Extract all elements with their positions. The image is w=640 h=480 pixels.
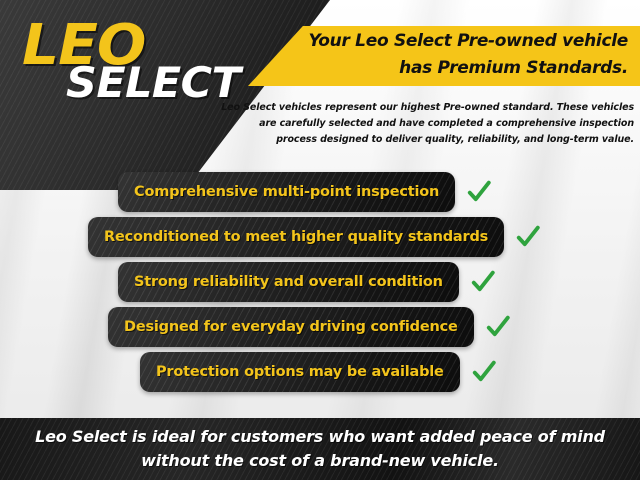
feature-pill: Comprehensive multi-point inspection [118, 172, 455, 212]
leo-select-logo: LEO SELECT [18, 18, 248, 110]
logo-secondary-text: SELECT [66, 62, 240, 104]
footer-text: Leo Select is ideal for customers who wa… [20, 425, 620, 473]
intro-paragraph: Leo Select vehicles represent our highes… [218, 100, 634, 148]
feature-row: Protection options may be available [140, 352, 497, 392]
check-icon [470, 269, 496, 295]
feature-label: Reconditioned to meet higher quality sta… [104, 229, 488, 245]
feature-pill: Reconditioned to meet higher quality sta… [88, 217, 504, 257]
page-title: Your Leo Select Pre-owned vehicle has Pr… [262, 28, 634, 82]
check-icon [515, 224, 541, 250]
page-title-line-1: Your Leo Select Pre-owned vehicle [262, 28, 628, 55]
feature-row: Comprehensive multi-point inspection [118, 172, 492, 212]
page-title-line-2: has Premium Standards. [262, 55, 628, 82]
check-icon [485, 314, 511, 340]
feature-label: Strong reliability and overall condition [134, 274, 443, 290]
feature-pill: Designed for everyday driving confidence [108, 307, 474, 347]
feature-pill: Strong reliability and overall condition [118, 262, 459, 302]
feature-label: Protection options may be available [156, 364, 444, 380]
feature-row: Designed for everyday driving confidence [108, 307, 511, 347]
feature-row: Reconditioned to meet higher quality sta… [88, 217, 541, 257]
leo-select-infographic: LEO SELECT Your Leo Select Pre-owned veh… [0, 0, 640, 480]
feature-pill: Protection options may be available [140, 352, 460, 392]
feature-row: Strong reliability and overall condition [118, 262, 496, 302]
feature-list: Comprehensive multi-point inspection Rec… [0, 172, 640, 402]
feature-label: Designed for everyday driving confidence [124, 319, 458, 335]
feature-label: Comprehensive multi-point inspection [134, 184, 439, 200]
check-icon [466, 179, 492, 205]
footer-banner: Leo Select is ideal for customers who wa… [0, 418, 640, 480]
check-icon [471, 359, 497, 385]
